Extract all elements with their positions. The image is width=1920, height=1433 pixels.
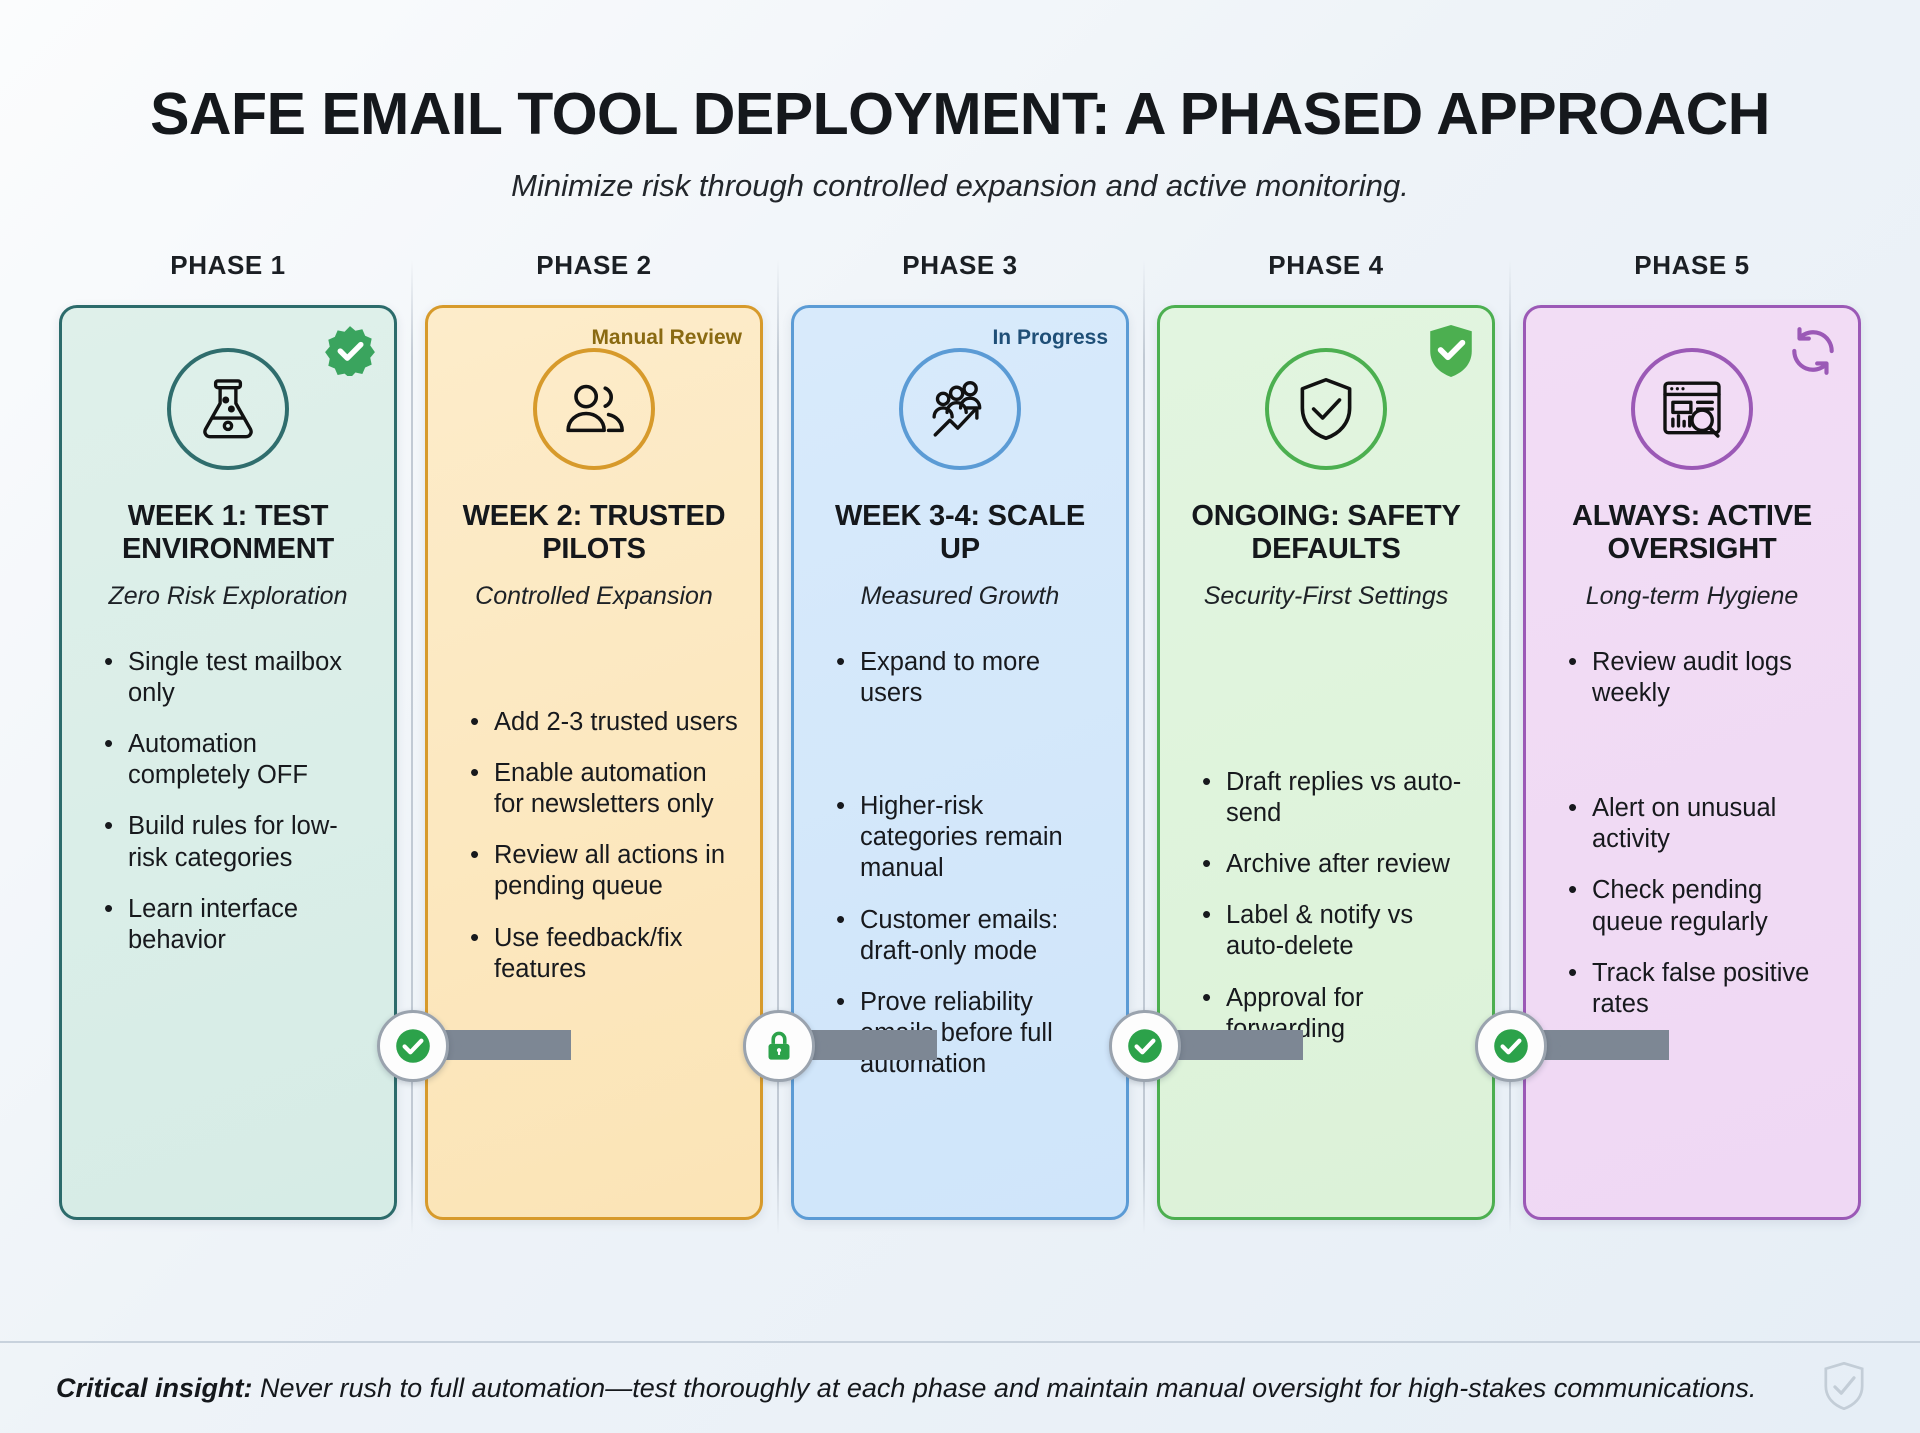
phase-label-1: PHASE 1 xyxy=(59,250,397,281)
page-title: SAFE EMAIL TOOL DEPLOYMENT: A PHASED APP… xyxy=(0,84,1920,146)
phase-bullets-2: Add 2-3 trusted users Enable automation … xyxy=(448,707,740,985)
phase-subtitle-3: Measured Growth xyxy=(814,582,1106,611)
list-item: Build rules for low-risk categories xyxy=(102,811,374,873)
list-item: Expand to more users xyxy=(834,647,1106,709)
phase-card-5[interactable]: ALWAYS: ACTIVE OVERSIGHT Long-term Hygie… xyxy=(1523,305,1861,1220)
list-item: Draft replies vs auto-send xyxy=(1200,767,1472,829)
growth-users-icon xyxy=(899,348,1021,470)
list-item: Enable automation for newsletters only xyxy=(468,758,740,820)
footer-insight: Critical insight: Never rush to full aut… xyxy=(56,1373,1756,1404)
phase-icon-wrap-3 xyxy=(814,348,1106,470)
shield-check-badge-icon xyxy=(1428,324,1474,378)
list-item: Label & notify vs auto-delete xyxy=(1200,900,1472,962)
list-item: Prove reliability emails before full aut… xyxy=(834,987,1106,1080)
footer-lead: Critical insight: xyxy=(56,1373,253,1403)
list-item: Add 2-3 trusted users xyxy=(468,707,740,738)
phase-label-2: PHASE 2 xyxy=(425,250,763,281)
phase-bullets-4: Draft replies vs auto-send Archive after… xyxy=(1180,767,1472,1045)
users-icon xyxy=(533,348,655,470)
phase-column-3: PHASE 3 In Progress WEEK xyxy=(777,250,1143,1220)
footer: Critical insight: Never rush to full aut… xyxy=(0,1341,1920,1433)
phase-label-3: PHASE 3 xyxy=(791,250,1129,281)
phase-bullets-3: Expand to more users Higher-risk categor… xyxy=(814,647,1106,1080)
list-item: Review all actions in pending queue xyxy=(468,840,740,902)
shield-check-icon xyxy=(1265,348,1387,470)
phase-bullets-5: Review audit logs weekly Alert on unusua… xyxy=(1546,647,1838,1020)
list-item: Review audit logs weekly xyxy=(1566,647,1838,709)
status-badge-in-progress: In Progress xyxy=(992,326,1108,350)
footer-body: Never rush to full automation—test thoro… xyxy=(253,1373,1757,1403)
phase-column-2: PHASE 2 Manual Review WEEK 2: TRUSTED PI… xyxy=(411,250,777,1220)
phase-column-4: PHASE 4 ONGOING: SAFETY DEFAULTS Securit… xyxy=(1143,250,1509,1220)
phase-card-4[interactable]: ONGOING: SAFETY DEFAULTS Security-First … xyxy=(1157,305,1495,1220)
list-item: Archive after review xyxy=(1200,849,1472,880)
list-item: Approval for forwarding xyxy=(1200,983,1472,1045)
phase-icon-wrap-2 xyxy=(448,348,740,470)
list-item: Higher-risk categories remain manual xyxy=(834,791,1106,884)
phase-card-2[interactable]: Manual Review WEEK 2: TRUSTED PILOTS Con… xyxy=(425,305,763,1220)
phase-bullets-1: Single test mailbox only Automation comp… xyxy=(82,647,374,956)
page-subtitle: Minimize risk through controlled expansi… xyxy=(0,168,1920,204)
phase-column-5: PHASE 5 xyxy=(1509,250,1875,1220)
phase-board: PHASE 1 xyxy=(45,250,1875,1220)
shield-check-watermark-icon xyxy=(1824,1362,1864,1415)
list-item: Alert on unusual activity xyxy=(1566,793,1838,855)
phase-title-2: WEEK 2: TRUSTED PILOTS xyxy=(448,500,740,566)
phase-column-1: PHASE 1 xyxy=(45,250,411,1220)
phase-subtitle-1: Zero Risk Exploration xyxy=(82,582,374,611)
verified-rosette-icon xyxy=(324,324,376,376)
flask-icon xyxy=(167,348,289,470)
phase-title-3: WEEK 3-4: SCALE UP xyxy=(814,500,1106,566)
refresh-cycle-icon xyxy=(1786,324,1840,378)
phase-card-1[interactable]: WEEK 1: TEST ENVIRONMENT Zero Risk Explo… xyxy=(59,305,397,1220)
phase-card-3[interactable]: In Progress WEEK 3-4: SCALE UP xyxy=(791,305,1129,1220)
list-item: Check pending queue regularly xyxy=(1566,875,1838,937)
list-item: Learn interface behavior xyxy=(102,894,374,956)
phase-subtitle-4: Security-First Settings xyxy=(1180,582,1472,611)
list-item: Single test mailbox only xyxy=(102,647,374,709)
phase-title-1: WEEK 1: TEST ENVIRONMENT xyxy=(82,500,374,566)
list-item: Use feedback/fix features xyxy=(468,923,740,985)
phase-label-5: PHASE 5 xyxy=(1523,250,1861,281)
phase-title-5: ALWAYS: ACTIVE OVERSIGHT xyxy=(1546,500,1838,566)
phase-subtitle-2: Controlled Expansion xyxy=(448,582,740,611)
phase-subtitle-5: Long-term Hygiene xyxy=(1546,582,1838,611)
list-item: Automation completely OFF xyxy=(102,729,374,791)
phase-label-4: PHASE 4 xyxy=(1157,250,1495,281)
phase-title-4: ONGOING: SAFETY DEFAULTS xyxy=(1180,500,1472,566)
status-badge-manual-review: Manual Review xyxy=(591,326,742,350)
list-item: Track false positive rates xyxy=(1566,958,1838,1020)
dashboard-search-icon xyxy=(1631,348,1753,470)
list-item: Customer emails: draft-only mode xyxy=(834,905,1106,967)
page-header: SAFE EMAIL TOOL DEPLOYMENT: A PHASED APP… xyxy=(0,0,1920,204)
